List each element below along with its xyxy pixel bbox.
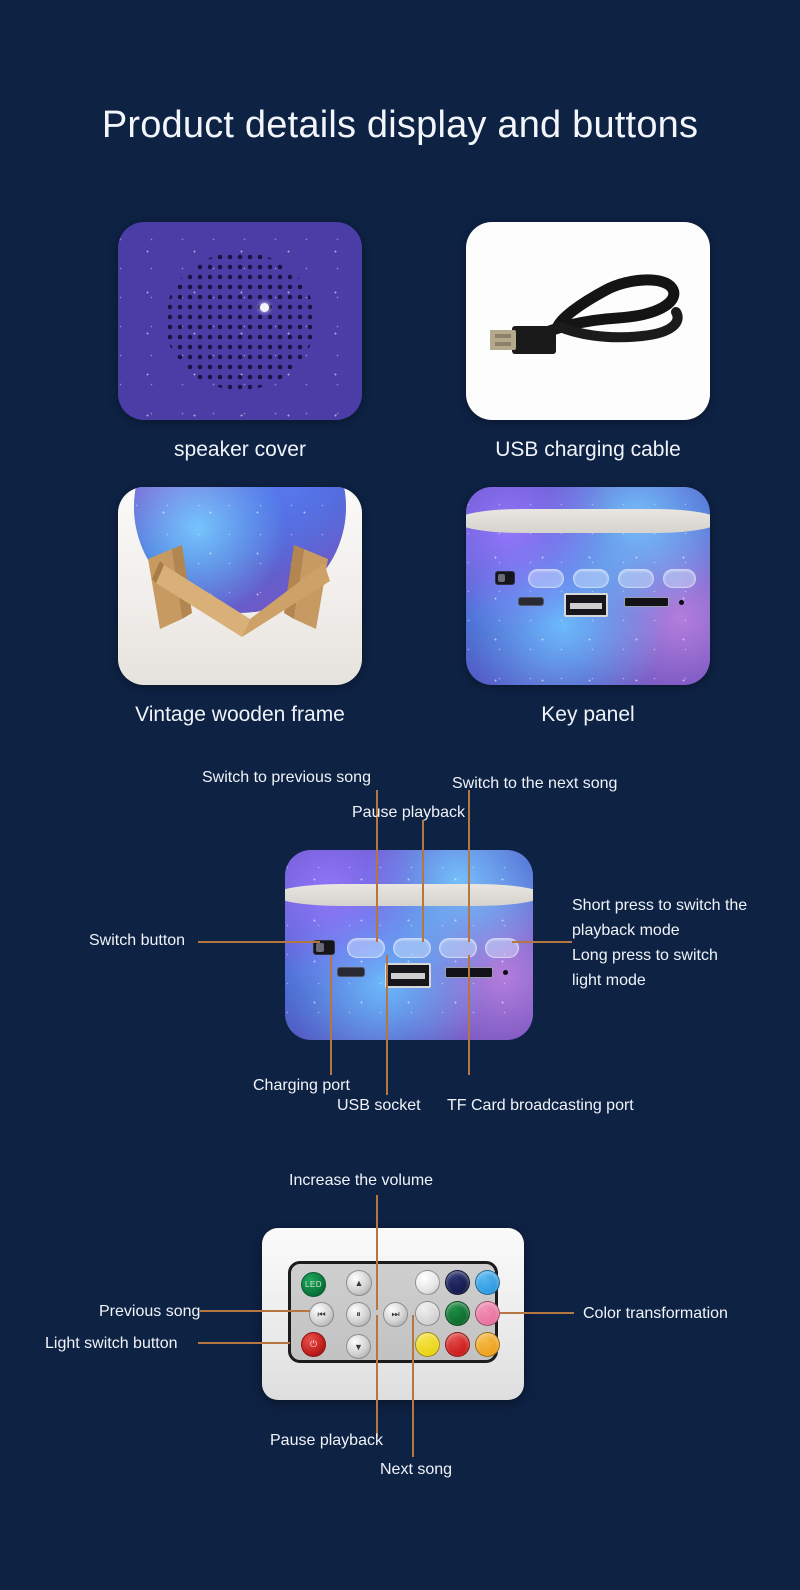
leader-line-pause-playback xyxy=(376,1315,378,1437)
annotation-increase-the-volume: Increase the volume xyxy=(289,1170,433,1192)
key-panel-annotated-diagram: Switch to previous song Pause playback S… xyxy=(0,755,800,1135)
usb-socket-icon xyxy=(564,593,608,617)
power-button[interactable]: ⏻ xyxy=(301,1332,326,1357)
charging-port-icon xyxy=(518,597,544,606)
leader-line-charging-port xyxy=(330,955,332,1075)
next-song-button[interactable]: ⏭ xyxy=(383,1302,408,1327)
tf-card-slot-icon xyxy=(624,597,669,607)
page-title: Product details display and buttons xyxy=(0,104,800,147)
mode-button-icon xyxy=(663,569,696,588)
highlight-dot-icon xyxy=(260,303,269,312)
volume-up-icon: ▲ xyxy=(347,1271,371,1295)
wooden-stand-icon xyxy=(118,487,362,685)
gallery-item-key-panel[interactable]: Key panel xyxy=(466,487,710,727)
pause-playback-button[interactable]: ⏸ xyxy=(346,1302,371,1327)
swatch-white[interactable] xyxy=(415,1270,440,1295)
wooden-frame-image[interactable] xyxy=(118,487,362,685)
swatch-silver[interactable] xyxy=(415,1301,440,1326)
leader-line-next-song xyxy=(412,1315,414,1457)
swatch-green[interactable] xyxy=(445,1301,470,1326)
led-button-label: LED xyxy=(302,1273,325,1296)
speaker-cover-image[interactable] xyxy=(118,222,362,420)
gallery-caption: speaker cover xyxy=(118,438,362,462)
annotation-previous-song: Previous song xyxy=(99,1301,200,1323)
speaker-grille-icon xyxy=(165,252,315,390)
pinhole-icon xyxy=(679,600,684,605)
leader-line-increase-the-volume xyxy=(376,1195,378,1310)
volume-down-button[interactable]: ▼ xyxy=(346,1334,371,1359)
swatch-navy[interactable] xyxy=(445,1270,470,1295)
annotation-switch-to-previous-song: Switch to previous song xyxy=(202,767,371,789)
leader-line-previous-song xyxy=(200,1310,310,1312)
swatch-orange[interactable] xyxy=(475,1332,500,1357)
annotation-pause-playback: Pause playback xyxy=(270,1430,383,1452)
control-panel-art xyxy=(466,487,710,685)
annotation-mode-line-3: Long press to switch xyxy=(572,945,718,967)
gallery-caption: USB charging cable xyxy=(466,438,710,462)
gallery-item-vintage-wooden-frame[interactable]: Vintage wooden frame xyxy=(118,487,362,727)
pause-playback-button-icon[interactable] xyxy=(393,938,431,958)
annotation-mode-line-2: playback mode xyxy=(572,920,680,942)
remote-control-device[interactable]: LED ⏮ ⏻ ▲ ⏸ ▼ ⏭ xyxy=(262,1228,524,1400)
swatch-pink[interactable] xyxy=(475,1301,500,1326)
volume-down-icon: ▼ xyxy=(347,1335,370,1358)
usb-socket-icon[interactable] xyxy=(385,963,431,988)
gallery-item-usb-charging-cable[interactable]: USB charging cable xyxy=(466,222,710,462)
usb-cable-image[interactable] xyxy=(466,222,710,420)
annotation-mode-line-1: Short press to switch the xyxy=(572,895,747,917)
usb-cable-icon xyxy=(466,222,710,420)
previous-song-button[interactable]: ⏮ xyxy=(309,1302,334,1327)
annotation-switch-button: Switch button xyxy=(89,930,185,952)
key-panel-image[interactable] xyxy=(466,487,710,685)
annotation-mode-line-4: light mode xyxy=(572,970,646,992)
annotation-tf-card-broadcasting-port: TF Card broadcasting port xyxy=(447,1095,634,1117)
pause-playback-button-icon xyxy=(573,569,609,588)
panel-seam xyxy=(285,884,533,906)
pause-playback-icon: ⏸ xyxy=(347,1303,370,1326)
annotation-next-song: Next song xyxy=(380,1459,452,1481)
power-icon: ⏻ xyxy=(302,1333,325,1356)
charging-port-icon[interactable] xyxy=(337,967,365,977)
next-song-button-icon[interactable] xyxy=(439,938,477,958)
pinhole-icon xyxy=(503,970,508,975)
annotation-pause-playback: Pause playback xyxy=(352,802,465,824)
annotation-usb-socket: USB socket xyxy=(337,1095,421,1117)
panel-seam xyxy=(466,509,710,533)
previous-song-icon: ⏮ xyxy=(310,1303,333,1326)
swatch-yellow[interactable] xyxy=(415,1332,440,1357)
next-song-button-icon xyxy=(618,569,654,588)
remote-button-face: LED ⏮ ⏻ ▲ ⏸ ▼ ⏭ xyxy=(288,1261,498,1363)
swatch-blue[interactable] xyxy=(475,1270,500,1295)
volume-up-button[interactable]: ▲ xyxy=(346,1270,372,1296)
leader-line-mode-button xyxy=(512,941,572,943)
gallery-item-speaker-cover[interactable]: speaker cover xyxy=(118,222,362,462)
key-panel-device-image[interactable] xyxy=(285,850,533,1040)
annotation-charging-port: Charging port xyxy=(253,1075,350,1097)
switch-button-icon xyxy=(495,571,515,585)
annotation-light-switch-button: Light switch button xyxy=(45,1333,178,1355)
gallery-caption: Key panel xyxy=(466,703,710,727)
previous-song-button-icon[interactable] xyxy=(347,938,385,958)
leader-line-pause-playback xyxy=(422,820,424,942)
leader-line-next-song xyxy=(468,790,470,942)
leader-line-light-switch-button xyxy=(198,1342,290,1344)
remote-annotated-diagram: LED ⏮ ⏻ ▲ ⏸ ▼ ⏭ xyxy=(0,1165,800,1495)
next-song-icon: ⏭ xyxy=(384,1303,407,1326)
swatch-red[interactable] xyxy=(445,1332,470,1357)
annotation-color-transformation: Color transformation xyxy=(583,1303,728,1325)
annotation-switch-to-the-next-song: Switch to the next song xyxy=(452,773,617,795)
leader-line-color-transformation xyxy=(500,1312,574,1314)
leader-line-switch-button xyxy=(198,941,320,943)
led-button[interactable]: LED xyxy=(301,1272,326,1297)
control-panel-art xyxy=(285,850,533,1040)
leader-line-tf-card-port xyxy=(468,955,470,1075)
leader-line-usb-socket xyxy=(386,955,388,1095)
previous-song-button-icon xyxy=(528,569,564,588)
gallery-caption: Vintage wooden frame xyxy=(118,703,362,727)
